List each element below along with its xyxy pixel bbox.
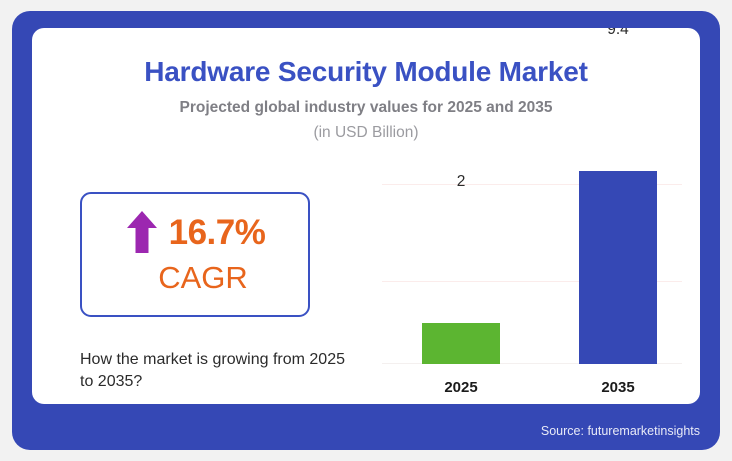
infographic-frame: Hardware Security Module Market Projecte… bbox=[12, 11, 720, 450]
chart-units-label: (in USD Billion) bbox=[32, 124, 700, 142]
category-label-2025: 2025 bbox=[422, 379, 500, 396]
bar-value-2035: 9.4 bbox=[579, 28, 657, 39]
chart-subtitle: Projected global industry values for 202… bbox=[32, 99, 700, 117]
bar-2035[interactable] bbox=[579, 171, 657, 364]
source-note: Source: futuremarketinsights bbox=[541, 424, 700, 438]
category-label-2035: 2035 bbox=[579, 379, 657, 396]
arrow-up-icon bbox=[125, 209, 159, 255]
bar-2025[interactable] bbox=[422, 323, 500, 364]
cagr-callout-box: 16.7% CAGR bbox=[80, 192, 310, 317]
growth-question-text: How the market is growing from 2025 to 2… bbox=[80, 349, 350, 393]
infographic-card: Hardware Security Module Market Projecte… bbox=[32, 28, 700, 404]
cagr-value: 16.7% bbox=[169, 215, 266, 250]
cagr-label: CAGR bbox=[82, 262, 308, 293]
bar-value-2025: 2 bbox=[422, 173, 500, 191]
page-title: Hardware Security Module Market bbox=[32, 56, 700, 88]
bar-chart-plot-area: 2 2025 9.4 2035 bbox=[382, 156, 682, 404]
cagr-value-row: 16.7% bbox=[82, 209, 308, 255]
